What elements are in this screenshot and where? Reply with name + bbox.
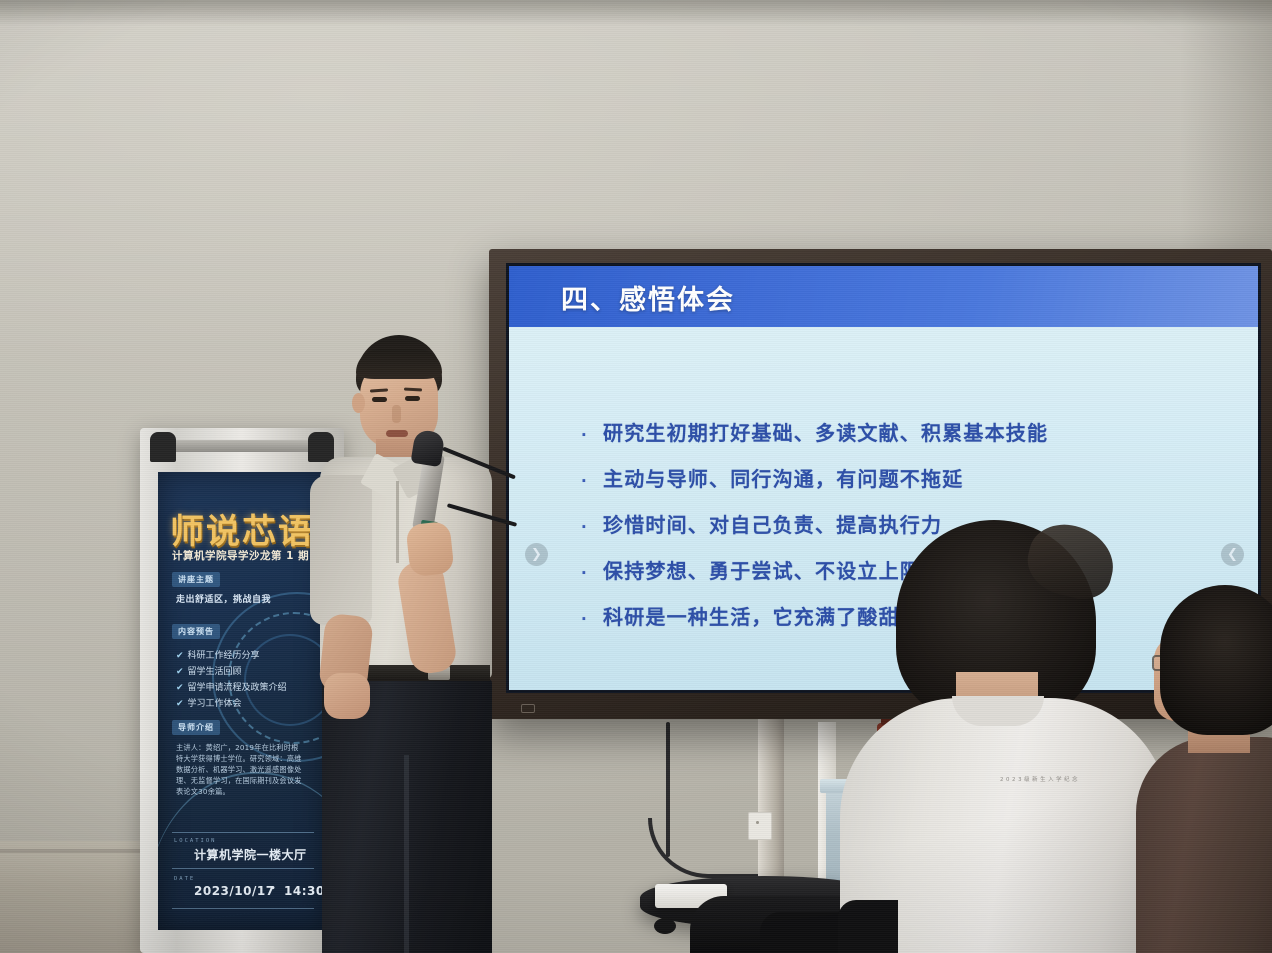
poster-topic-text: 走出舒适区，挑战自我 bbox=[176, 592, 271, 605]
poster-rule-bottom bbox=[172, 908, 314, 909]
poster-rule-mid bbox=[172, 868, 314, 869]
presenter-trouser-seam bbox=[404, 755, 409, 953]
presenter-nose bbox=[392, 405, 401, 423]
audience-right-hair bbox=[1160, 585, 1272, 735]
presenter-shirt-placket bbox=[396, 481, 399, 563]
bullet-marker-icon: · bbox=[581, 426, 603, 444]
bullet-marker-icon: · bbox=[581, 472, 603, 490]
lecture-photo-scene: 师说芯语 计算机学院导学沙龙第 1 期 讲座主题 走出舒适区，挑战自我 内容预告… bbox=[0, 0, 1272, 953]
bullet-marker-icon: · bbox=[581, 518, 603, 536]
easel-corner-cap-left bbox=[150, 432, 176, 462]
check-icon: ✔ bbox=[176, 651, 184, 661]
check-icon: ✔ bbox=[176, 683, 184, 693]
poster-date-value: 2023/10/17 bbox=[194, 884, 275, 898]
poster-location-value: 计算机学院一楼大厅 bbox=[194, 846, 307, 863]
presenter-ear bbox=[352, 393, 365, 413]
presenter-sleeve-left bbox=[310, 475, 372, 625]
slide-bullet-1: · 主动与导师、同行沟通，有问题不拖延 bbox=[581, 463, 1221, 492]
poster-rule-top bbox=[172, 832, 314, 833]
presenter-eye-left bbox=[372, 397, 387, 402]
audience-right-top bbox=[1136, 737, 1272, 953]
audience-member-front: 2023级新生入学纪念 bbox=[860, 520, 1170, 953]
poster-preview-item-2: ✔留学申请流程及政策介绍 bbox=[176, 680, 287, 693]
bullet-marker-icon: · bbox=[581, 564, 603, 582]
check-icon: ✔ bbox=[176, 667, 184, 677]
poster-bio-text: 主讲人：黄绍广，2019年在比利时根特大学获得博士学位。研究领域：高维数据分析、… bbox=[176, 742, 304, 797]
presenter-mouth bbox=[386, 430, 408, 437]
presenter-hand-left bbox=[324, 673, 370, 719]
poster-preview-item-3: ✔学习工作体会 bbox=[176, 696, 242, 709]
slide-prev-chevron-icon[interactable]: ❮ bbox=[1221, 543, 1244, 566]
ceiling-shadow bbox=[0, 0, 1272, 26]
slide-title-bar: 四、感悟体会 bbox=[509, 266, 1258, 327]
check-icon: ✔ bbox=[176, 699, 184, 709]
bullet-marker-icon: · bbox=[581, 610, 603, 628]
presenter bbox=[300, 335, 530, 953]
poster-preview-item-0: ✔科研工作经历分享 bbox=[176, 648, 260, 661]
poster-topic-label: 讲座主题 bbox=[172, 572, 220, 587]
audience-front-shoulder-shadow bbox=[838, 900, 898, 953]
presenter-hand-right bbox=[405, 521, 454, 577]
poster-preview-label: 内容预告 bbox=[172, 624, 220, 639]
slide-title: 四、感悟体会 bbox=[561, 278, 735, 317]
poster-date-label: DATE bbox=[174, 876, 195, 882]
audience-front-tshirt-text: 2023级新生入学纪念 bbox=[1000, 775, 1120, 783]
slide-bullet-0: · 研究生初期打好基础、多读文献、积累基本技能 bbox=[581, 417, 1221, 446]
wall-socket[interactable] bbox=[748, 812, 772, 840]
poster-bio-label: 导师介绍 bbox=[172, 720, 220, 735]
slide-bullet-text: 主动与导师、同行沟通，有问题不拖延 bbox=[603, 463, 963, 492]
presenter-eye-right bbox=[405, 396, 420, 401]
audience-member-right bbox=[1150, 585, 1272, 953]
presenter-hair-front bbox=[356, 349, 442, 379]
poster-location-label: LOCATION bbox=[174, 838, 217, 844]
stand-caster-left bbox=[654, 918, 676, 934]
display-stand-pole bbox=[758, 719, 784, 884]
slide-bullet-text: 研究生初期打好基础、多读文献、积累基本技能 bbox=[603, 417, 1048, 446]
poster-date-separator: • bbox=[270, 884, 276, 894]
poster-preview-item-1: ✔留学生活回顾 bbox=[176, 664, 242, 677]
